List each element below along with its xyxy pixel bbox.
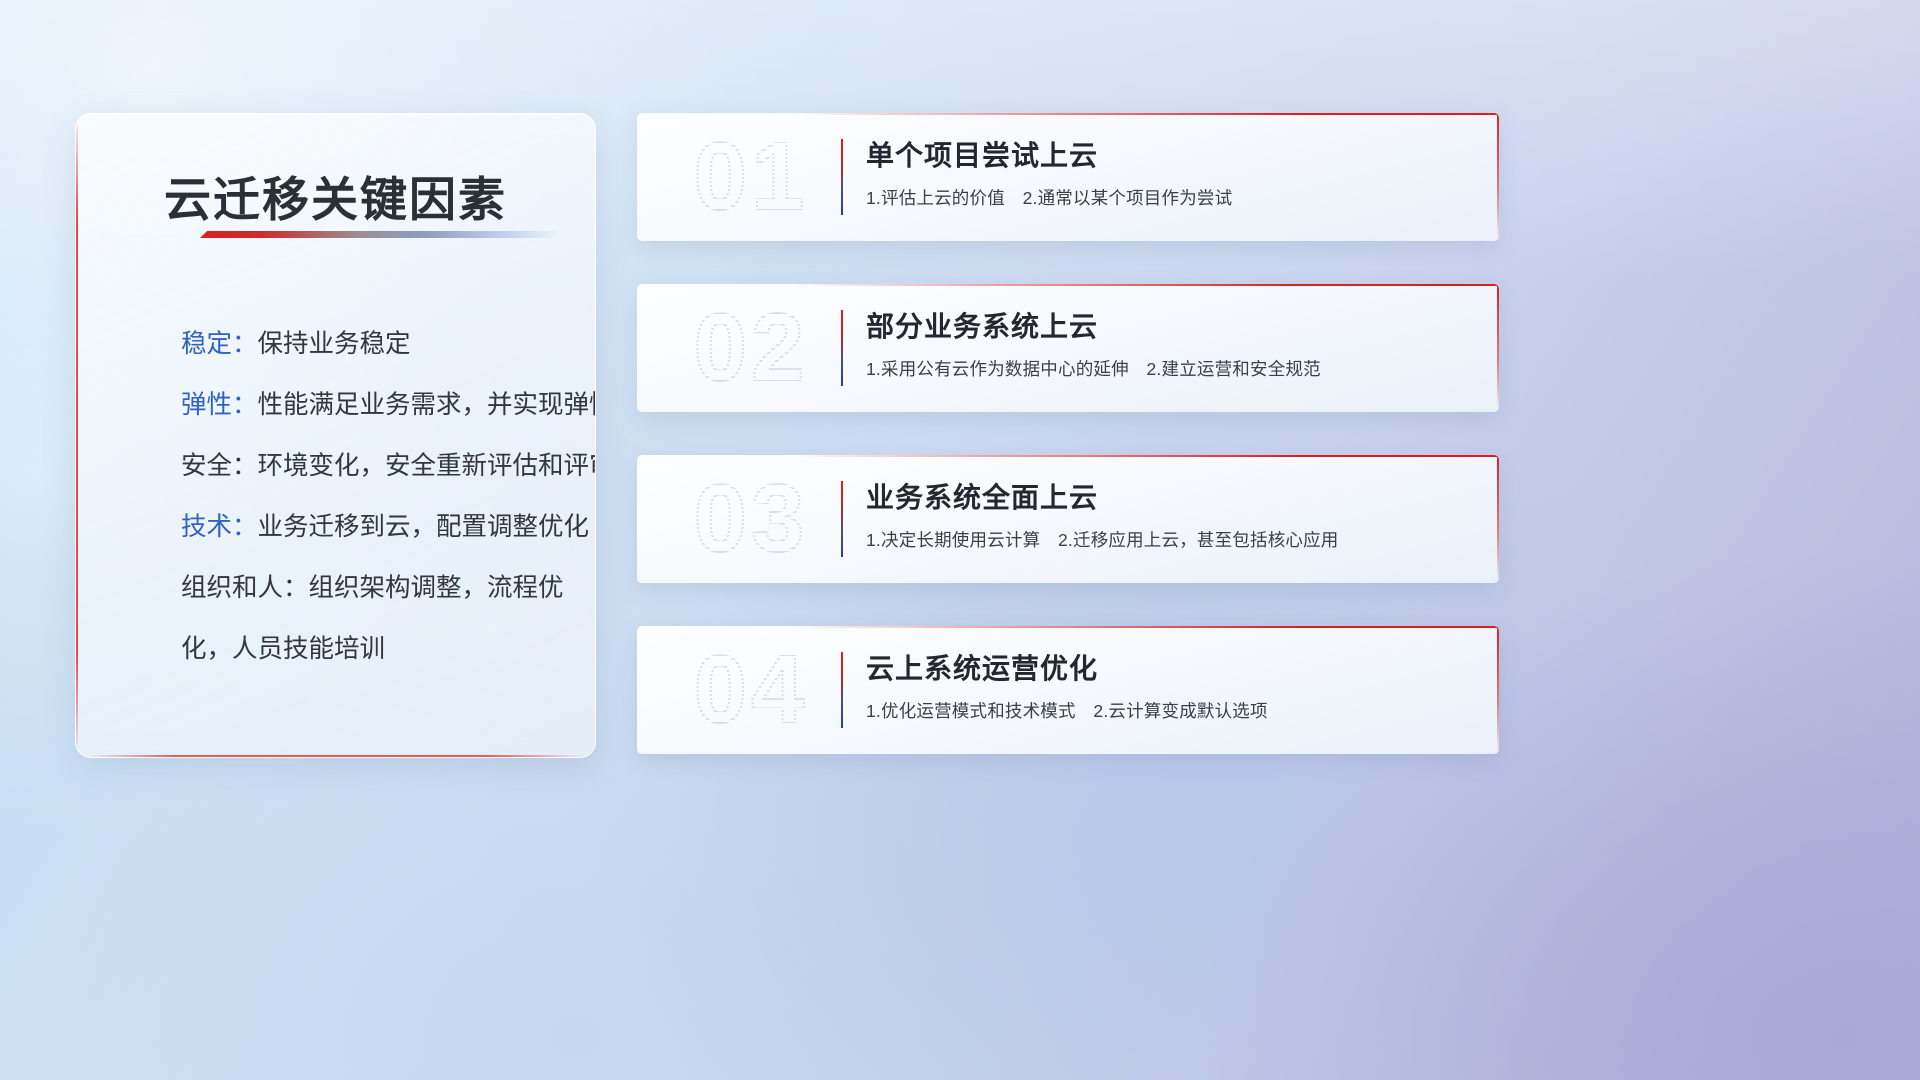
stage-number-03: 03 bbox=[661, 463, 841, 575]
stage-title: 业务系统全面上云 bbox=[866, 476, 1098, 516]
list-item-key: 技术： bbox=[181, 513, 258, 541]
list-item: 安全：环境变化，安全重新评估和评审 bbox=[181, 436, 565, 497]
stage-number-01: 01 bbox=[661, 121, 841, 233]
slide-stage: 云迁移关键因素 稳定：保持业务稳定 弹性：性能满足业务需求，并实现弹性 安全：环… bbox=[0, 0, 1920, 1080]
card-right-accent bbox=[1497, 113, 1499, 241]
stage-card-01[interactable]: 01 单个项目尝试上云 1.评估上云的价值 2.通常以某个项目作为尝试 bbox=[637, 113, 1499, 241]
key-factors-panel: 云迁移关键因素 稳定：保持业务稳定 弹性：性能满足业务需求，并实现弹性 安全：环… bbox=[75, 113, 596, 758]
list-item-text: 性能满足业务需求，并实现弹性 bbox=[258, 391, 596, 419]
card-right-accent bbox=[1497, 455, 1499, 583]
stage-card-02[interactable]: 02 部分业务系统上云 1.采用公有云作为数据中心的延伸 2.建立运营和安全规范 bbox=[637, 284, 1499, 412]
panel-title: 云迁移关键因素 bbox=[164, 161, 507, 230]
list-item: 组织和人：组织架构调整，流程优化，人员技能培训 bbox=[181, 558, 565, 680]
list-item-text: 保持业务稳定 bbox=[258, 330, 411, 358]
card-divider-bar bbox=[841, 481, 843, 557]
stage-card-03[interactable]: 03 业务系统全面上云 1.决定长期使用云计算 2.迁移应用上云，甚至包括核心应… bbox=[637, 455, 1499, 583]
stage-number-04: 04 bbox=[661, 634, 841, 746]
list-item-key: 弹性： bbox=[181, 391, 258, 419]
list-item: 弹性：性能满足业务需求，并实现弹性 bbox=[181, 375, 565, 436]
title-underline-rule bbox=[200, 231, 560, 238]
list-item-text: 业务迁移到云，配置调整优化 bbox=[258, 513, 590, 541]
list-item: 稳定：保持业务稳定 bbox=[181, 314, 565, 375]
list-item-key: 组织和人： bbox=[181, 574, 309, 602]
stage-title: 单个项目尝试上云 bbox=[866, 134, 1098, 174]
stage-subtitle: 1.优化运营模式和技术模式 2.云计算变成默认选项 bbox=[866, 698, 1268, 723]
key-factors-list: 稳定：保持业务稳定 弹性：性能满足业务需求，并实现弹性 安全：环境变化，安全重新… bbox=[181, 314, 565, 680]
card-divider-bar bbox=[841, 139, 843, 215]
stage-subtitle: 1.评估上云的价值 2.通常以某个项目作为尝试 bbox=[866, 185, 1232, 210]
card-right-accent bbox=[1497, 284, 1499, 412]
stage-title: 部分业务系统上云 bbox=[866, 305, 1098, 345]
list-item-key: 安全： bbox=[181, 452, 258, 480]
stage-card-04[interactable]: 04 云上系统运营优化 1.优化运营模式和技术模式 2.云计算变成默认选项 bbox=[637, 626, 1499, 754]
list-item-text: 环境变化，安全重新评估和评审 bbox=[258, 452, 596, 480]
stage-subtitle: 1.决定长期使用云计算 2.迁移应用上云，甚至包括核心应用 bbox=[866, 527, 1339, 552]
card-divider-bar bbox=[841, 310, 843, 386]
list-item-key: 稳定： bbox=[181, 330, 258, 358]
stage-title: 云上系统运营优化 bbox=[866, 647, 1098, 687]
stage-subtitle: 1.采用公有云作为数据中心的延伸 2.建立运营和安全规范 bbox=[866, 356, 1321, 381]
card-divider-bar bbox=[841, 652, 843, 728]
list-item: 技术：业务迁移到云，配置调整优化 bbox=[181, 497, 565, 558]
card-right-accent bbox=[1497, 626, 1499, 754]
stage-number-02: 02 bbox=[661, 292, 841, 404]
